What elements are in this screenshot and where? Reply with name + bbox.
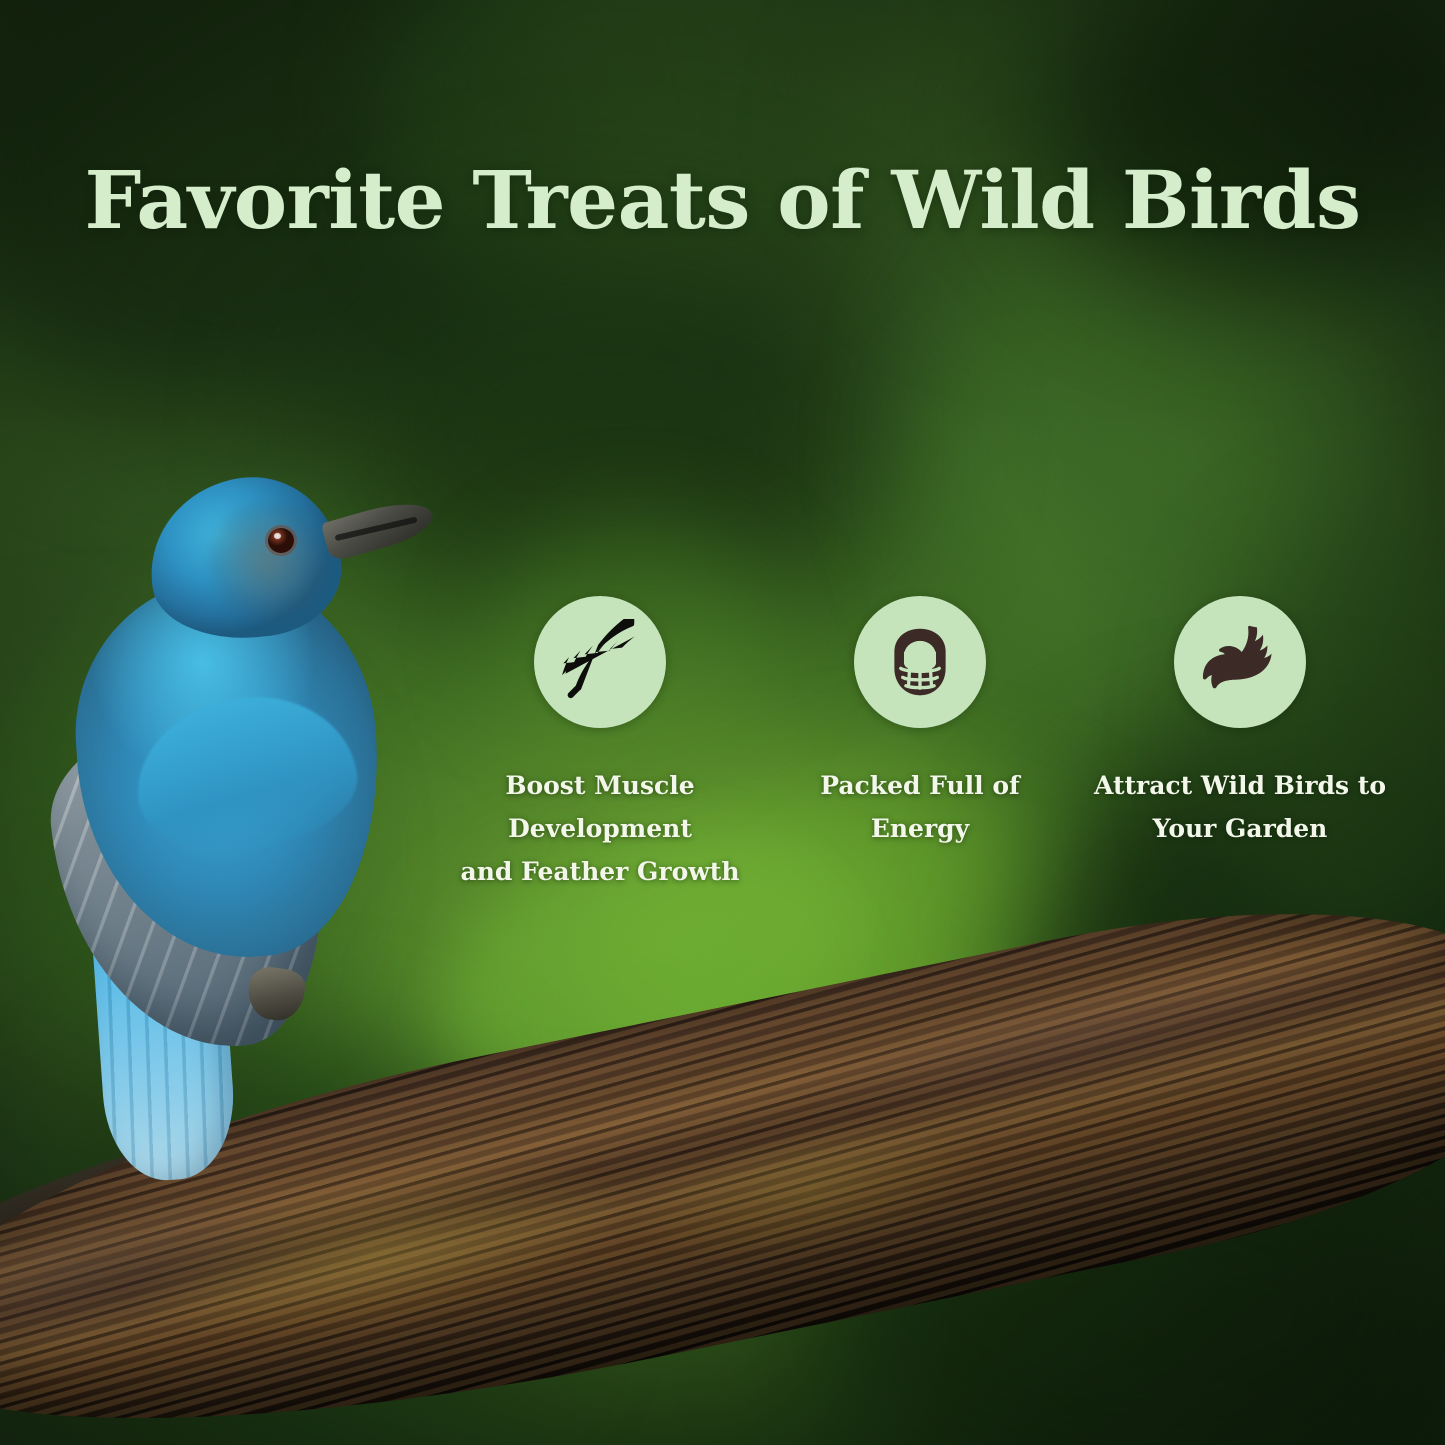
feature-label-line: Boost Muscle — [461, 764, 740, 807]
bird-nape — [208, 500, 328, 620]
feather-icon — [557, 619, 643, 705]
feature-badge — [534, 596, 666, 728]
feature-label-line: Development — [461, 807, 740, 850]
feature-label: Boost Muscle Development and Feather Gro… — [461, 764, 740, 893]
feature-list: Boost Muscle Development and Feather Gro… — [440, 596, 1400, 896]
feature-badge — [854, 596, 986, 728]
feature-item-energy: Packed Full of Energy — [760, 596, 1080, 850]
feature-label-line: Your Garden — [1094, 807, 1386, 850]
feature-label-line: and Feather Growth — [461, 850, 740, 893]
feature-label-line: Attract Wild Birds to — [1094, 764, 1386, 807]
page-title: Favorite Treats of Wild Birds — [0, 160, 1445, 240]
perched-blue-bird — [40, 470, 460, 1170]
product-infographic-banner: Favorite Treats of Wild Birds Boost Musc… — [0, 0, 1445, 1445]
feature-item-muscle-development: Boost Muscle Development and Feather Gro… — [440, 596, 760, 893]
suet-ball-feeder-icon — [879, 621, 961, 703]
flying-bird-icon — [1197, 619, 1283, 705]
feature-badge — [1174, 596, 1306, 728]
feature-label: Packed Full of Energy — [770, 764, 1070, 850]
feature-label-line: Packed Full of Energy — [770, 764, 1070, 850]
bird-beak — [321, 494, 438, 563]
feature-label: Attract Wild Birds to Your Garden — [1094, 764, 1386, 850]
bird-eye — [268, 528, 294, 553]
feature-item-attract-birds: Attract Wild Birds to Your Garden — [1080, 596, 1400, 850]
